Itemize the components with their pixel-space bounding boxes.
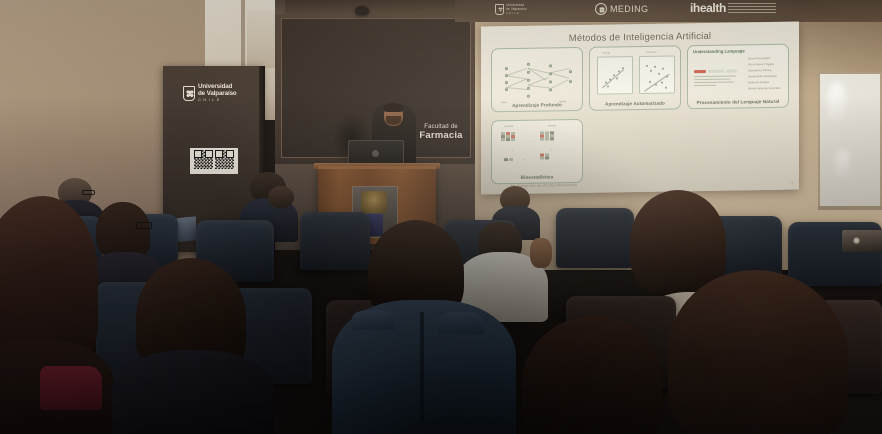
denim-collar-right (438, 312, 484, 334)
logo-ihealth: ihealth (690, 2, 776, 14)
slide-page-number: 1 (791, 181, 793, 185)
av-equipment (842, 230, 882, 252)
ml-plot-left (597, 56, 633, 95)
nlp-bullet-0: Speech Recognition (748, 57, 770, 60)
ml-caption-right: prediction (646, 51, 656, 54)
uv-shield-icon (495, 4, 504, 15)
nlp-highlight-token (694, 70, 706, 73)
nlp-bullet-2: Dependency Parsing (748, 69, 771, 72)
lecture-hall-photo: Universidad de Valparaíso CHILE MEDING i… (0, 0, 882, 434)
glasses-icon-mid (136, 222, 152, 229)
ceiling-spot-icon (355, 6, 369, 15)
nlp-bullet-4: Sentiment Analysis (748, 81, 769, 84)
slide-panel-label-3: Bioestadística (492, 174, 582, 180)
banner-faculty: Facultad de Farmacia (0, 124, 882, 141)
denim-collar-left (352, 310, 394, 330)
audience-hand-on-face (530, 238, 552, 268)
meding-badge-icon (595, 3, 607, 15)
banner-shield-icon (183, 86, 195, 101)
slide-panel-label-0: Aprendizaje Profundo (492, 102, 582, 108)
meding-label: MEDING (610, 4, 648, 14)
audience-red-bag (40, 366, 102, 410)
whiteboard-tray (818, 206, 882, 210)
ihealth-label: ihealth (690, 2, 726, 14)
ml-plot-right (639, 55, 675, 94)
biostat-matrix-4 (540, 153, 549, 159)
ml-caption-left: training (602, 51, 610, 54)
banner-faculty-name: Farmacia (0, 130, 882, 141)
biostat-matrix-3 (504, 158, 513, 161)
qr-right-caption: Escanea aquí (215, 166, 234, 168)
uv-logo-line3: CHILE (506, 12, 527, 16)
lectern-emblem-icon (361, 191, 387, 213)
banner-qr-group[interactable]: Escanea aquí Escanea aquí (190, 148, 238, 174)
presenter-hair (384, 103, 403, 112)
presenter-beard (386, 116, 401, 125)
nlp-bullet-5: Natural Language Generation (748, 87, 781, 91)
logo-universidad-valparaiso: Universidad de Valparaíso CHILE (495, 4, 527, 15)
audience-head-front-right (668, 270, 848, 434)
slide-panel-label-2: Procesamiento del Lenguaje Natural (688, 99, 788, 106)
banner-university-line2: de Valparaíso (198, 91, 237, 98)
nlp-header: Understanding Language (693, 48, 745, 54)
slide-title: Métodos de Inteligencia Artificial (481, 30, 799, 46)
audience-head-front-center-right (522, 316, 662, 434)
audience-head-back-extra (268, 186, 294, 208)
nlp-bullet-3: Named Entity Recognition (748, 75, 777, 78)
qr-left-caption: Escanea aquí (194, 166, 213, 168)
nlp-token-a (708, 70, 724, 73)
audience-head-mid-right (630, 190, 726, 294)
slide-panel-deep-learning: input output Aprendizaje Profundo (491, 47, 583, 112)
projection-screen: Métodos de Inteligencia Artificial (481, 22, 799, 195)
denim-shirt-seam (420, 312, 424, 422)
laptop-logo-icon (372, 150, 379, 157)
slide-panel-machine-learning: training prediction Aprendizaje Automati… (589, 45, 681, 110)
slide-panel-nlp: Understanding Language Speech Recognitio… (687, 44, 789, 110)
ihealth-subtext-block (728, 3, 776, 14)
chair-mid-6 (556, 208, 634, 268)
nlp-bullet-1: Part of Speech Tagging (748, 63, 774, 66)
logo-meding: MEDING (595, 3, 648, 15)
audience-body-front-center-left (112, 350, 274, 434)
chair-mid-4 (300, 212, 370, 270)
whiteboard-glare (828, 82, 846, 122)
slide-panel-label-1: Aprendizaje Automatizado (590, 100, 680, 106)
glasses-icon-back-left (82, 190, 95, 195)
banner-university-line3: CHILE (198, 97, 237, 102)
projector-lens-icon (852, 236, 861, 245)
banner-university-logo: Universidad de Valparaíso CHILE (183, 84, 237, 102)
whiteboard-glare-secondary (836, 150, 850, 180)
neural-network-graphic: input output (497, 52, 577, 101)
nlp-token-b (726, 69, 737, 72)
